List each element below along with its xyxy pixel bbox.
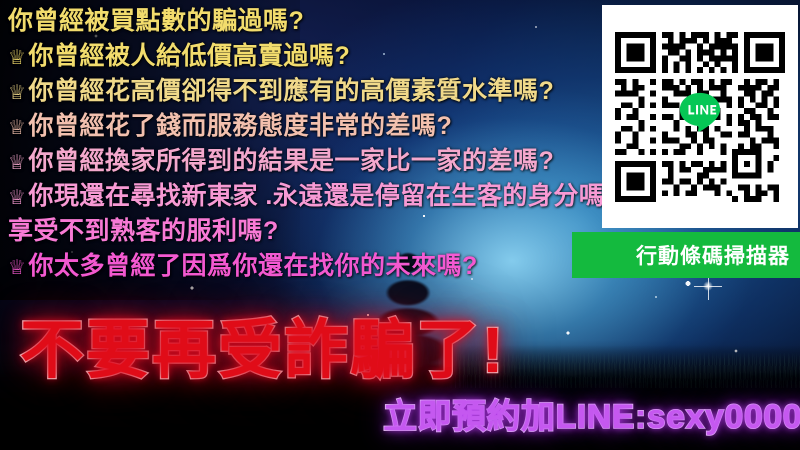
question-text: 你曾經被買點數的騙過嗎? [8, 4, 304, 39]
question-text: 你太多曾經了因爲你還在找你的未來嗎? [28, 249, 477, 284]
question-line: 你曾經被買點數的騙過嗎? [8, 4, 648, 39]
question-line: ♕ 你曾經花了錢而服務態度非常的差嗎? [8, 109, 648, 144]
question-line: ♕ 你現還在尋找新東家 .永遠還是停留在生客的身分嗎? [8, 179, 648, 214]
question-text: 你曾經花了錢而服務態度非常的差嗎? [28, 109, 452, 144]
line-id-cta: 立即預約加LINE:sexy000004 [383, 389, 800, 438]
question-line: ♕ 你曾經被人給低價高賣過嗎? [8, 39, 648, 74]
barcode-scanner-label: 行動條碼掃描器 [636, 240, 790, 270]
qr-code-panel[interactable] [602, 5, 798, 228]
question-line: ♕ 你太多曾經了因爲你還在找你的未來嗎? [8, 249, 648, 284]
barcode-scanner-button[interactable]: 行動條碼掃描器 [572, 232, 800, 278]
crown-icon: ♕ [8, 188, 26, 208]
question-text: 你曾經換家所得到的結果是一家比一家的差嗎? [28, 144, 554, 179]
question-text: 你曾經花高價卻得不到應有的高價素質水準嗎? [28, 74, 554, 109]
question-text: 你曾經被人給低價高賣過嗎? [28, 39, 350, 74]
question-line: ♕ 你曾經花高價卻得不到應有的高價素質水準嗎? [8, 74, 648, 109]
headline-text: 不要再受詐騙了! [20, 299, 505, 391]
question-line: 享受不到熟客的服利嗎? [8, 214, 648, 249]
crown-icon: ♕ [8, 153, 26, 173]
line-logo-icon [677, 90, 723, 136]
crown-icon: ♕ [8, 48, 26, 68]
question-text: 享受不到熟客的服利嗎? [8, 214, 279, 249]
bright-star-icon [703, 281, 713, 291]
question-text: 你現還在尋找新東家 .永遠還是停留在生客的身分嗎? [28, 179, 620, 214]
crown-icon: ♕ [8, 118, 26, 138]
qr-code-image[interactable] [615, 32, 785, 202]
crown-icon: ♕ [8, 83, 26, 103]
question-line: ♕ 你曾經換家所得到的結果是一家比一家的差嗎? [8, 144, 648, 179]
crown-icon: ♕ [8, 258, 26, 278]
promo-banner: 你曾經被買點數的騙過嗎? ♕ 你曾經被人給低價高賣過嗎? ♕ 你曾經花高價卻得不… [0, 0, 800, 450]
question-list: 你曾經被買點數的騙過嗎? ♕ 你曾經被人給低價高賣過嗎? ♕ 你曾經花高價卻得不… [8, 4, 648, 284]
